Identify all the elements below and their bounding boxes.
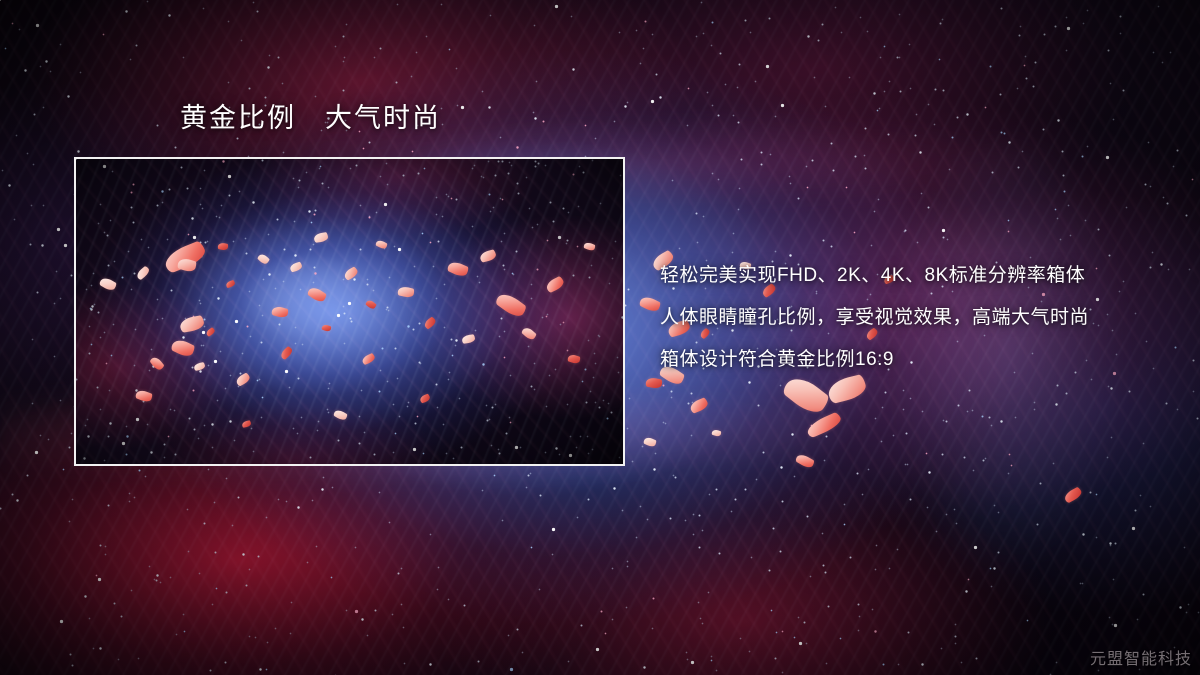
flower-petal xyxy=(643,436,657,448)
flower-petal xyxy=(795,452,816,470)
body-line-3: 箱体设计符合黄金比例16:9 xyxy=(660,339,1160,381)
flower-petal xyxy=(711,429,721,437)
flower-petal xyxy=(1063,486,1084,503)
body-text-block: 轻松完美实现FHD、2K、4K、8K标准分辨率箱体 人体眼睛瞳孔比例，享受视觉效… xyxy=(660,255,1160,381)
flower-petal xyxy=(805,411,844,438)
page-title: 黄金比例 大气时尚 xyxy=(180,102,441,136)
brand-watermark: 元盟智能科技 xyxy=(1090,645,1192,669)
presentation-slide: 黄金比例 大气时尚 轻松完美实现FHD、2K、4K、8K标准分辨率箱体 人体眼睛… xyxy=(0,0,1200,675)
body-line-2: 人体眼睛瞳孔比例，享受视觉效果，高端大气时尚 xyxy=(660,297,1160,339)
body-line-1: 轻松完美实现FHD、2K、4K、8K标准分辨率箱体 xyxy=(660,255,1160,297)
flower-petal xyxy=(689,397,710,414)
flower-petal xyxy=(638,294,661,314)
